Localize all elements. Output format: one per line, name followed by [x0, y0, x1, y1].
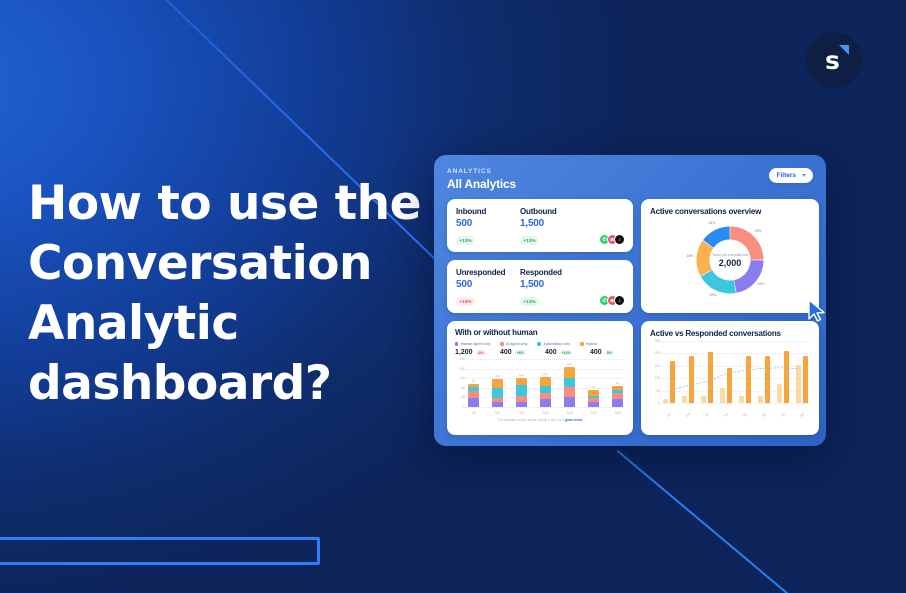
status-badge: +13%	[520, 297, 539, 305]
chart-card-active-conversations[interactable]: Active conversations overview Total conv…	[641, 199, 819, 313]
bar-total-label: 116	[492, 374, 503, 378]
bar-group: 961161221251667089	[468, 359, 623, 407]
status-badge: +15%	[456, 297, 475, 305]
donut-center-value: 2,000	[719, 258, 742, 268]
bar-active	[663, 399, 668, 403]
stacked-bar: 116	[492, 374, 503, 407]
bar-pair	[682, 356, 694, 403]
x-axis-tick: 4/8	[720, 410, 732, 421]
chart-footnote: The analytics shown above include a time…	[455, 418, 625, 422]
stacked-bar-plot: 040801201602009611612212516670897/88/89/…	[455, 359, 625, 415]
bar-active	[796, 365, 801, 403]
bar-segment	[540, 399, 551, 407]
kpi-badge: +8%	[515, 350, 526, 356]
bar-pair	[758, 356, 770, 403]
footnote-link[interactable]: given trend	[565, 418, 582, 422]
bar-segment	[540, 386, 551, 393]
bar-segment	[492, 379, 503, 388]
bar-pair	[739, 356, 751, 403]
y-axis-tick: 0	[658, 401, 660, 405]
legend-swatch	[500, 342, 503, 345]
kpi-badge: -5%	[476, 350, 486, 356]
stacked-bar: 70	[588, 385, 599, 407]
bar-segment	[564, 397, 575, 407]
bar-segment	[516, 378, 527, 386]
donut-center-caption: Total conversations	[712, 252, 748, 257]
legend-label: Human agent only	[461, 342, 490, 346]
x-axis-tick: 11/8	[564, 411, 575, 415]
y-axis-tick: 160	[460, 367, 465, 371]
y-axis-tick: 0	[463, 405, 465, 409]
chart-kpi-row: 1,200-5%400+8%400+14%4000%	[455, 349, 625, 356]
kpi-value: 400	[545, 349, 557, 356]
bar-active	[682, 396, 687, 403]
bar-responded	[746, 356, 751, 403]
chart-card-with-or-without-human[interactable]: With or without human Human agent onlyAI…	[447, 321, 633, 435]
x-axis-tick: 10/8	[540, 411, 551, 415]
donut-segment-label: 15%	[706, 221, 718, 225]
chevron-down-icon	[802, 174, 806, 177]
y-axis: 04080120160200	[455, 359, 466, 407]
x-axis-tick: 1/8	[663, 410, 675, 421]
bar-pair	[777, 351, 789, 403]
bar-responded	[670, 361, 675, 403]
legend-item: Automation only	[537, 342, 570, 346]
chart-title: With or without human	[455, 328, 625, 337]
y-axis-tick: 100	[655, 376, 660, 380]
y-axis-tick: 40	[461, 395, 465, 399]
kpi-value: 1,200	[455, 349, 473, 356]
dashboard-grid: Inbound 500 +13% Outbound 1,500 +13% ✆ ◙…	[447, 199, 813, 435]
legend-swatch	[455, 342, 458, 345]
bar-total-label: 166	[564, 362, 575, 366]
bar-segment	[516, 385, 527, 395]
bar-segment	[492, 402, 503, 407]
legend-label: Automation only	[543, 342, 570, 346]
stat-value: 500	[456, 279, 520, 290]
stat-unresponded: Unresponded 500 +15%	[456, 268, 520, 308]
x-axis-tick: 3/8	[701, 410, 713, 421]
chart-title: Active conversations overview	[650, 207, 810, 216]
bar-responded	[784, 351, 789, 403]
bar-active	[777, 384, 782, 403]
bar-segment	[564, 387, 575, 397]
bar-responded	[727, 368, 732, 403]
stat-card-unresponded-responded[interactable]: Unresponded 500 +15% Responded 1,500 +13…	[447, 260, 633, 313]
kpi-badge: 0%	[605, 350, 614, 356]
legend-swatch	[537, 342, 540, 345]
bar-segment	[564, 367, 575, 378]
bar-pair	[796, 356, 808, 403]
kpi-item: 400+8%	[500, 349, 535, 356]
bar-responded	[803, 356, 808, 403]
kpi-value: 400	[500, 349, 512, 356]
bar-responded	[708, 352, 713, 403]
dashboard-heading-group: ANALYTICS All Analytics	[447, 168, 516, 191]
dashboard-left-column: Inbound 500 +13% Outbound 1,500 +13% ✆ ◙…	[447, 199, 633, 435]
legend-item: AI agent only	[500, 342, 527, 346]
status-badge: +13%	[520, 236, 539, 244]
stacked-bar: 122	[516, 373, 527, 407]
tiktok-icon: ♪	[614, 295, 625, 306]
bar-total-label: 122	[516, 373, 527, 377]
bar-total-label: 96	[468, 379, 479, 383]
logo-triangle-icon	[839, 45, 849, 55]
legend-swatch	[580, 342, 583, 345]
donut-chart-wrapper: Total conversations 2,000 25%22%20%18%15…	[650, 216, 810, 304]
gridline	[661, 403, 810, 404]
filters-button[interactable]: Filters	[769, 168, 813, 183]
chart-card-active-vs-responded[interactable]: Active vs Responded conversations 050100…	[641, 321, 819, 435]
donut-segment-label: 25%	[752, 229, 764, 233]
dashboard-eyebrow: ANALYTICS	[447, 168, 516, 175]
analytics-dashboard-panel: ANALYTICS All Analytics Filters Inbound …	[434, 155, 826, 446]
kpi-value: 400	[590, 349, 602, 356]
bar-segment	[516, 402, 527, 407]
grouped-bar-plot: 0501001502002501/82/83/84/85/86/87/88/8	[650, 341, 810, 417]
y-axis-tick: 200	[655, 351, 660, 355]
y-axis-tick: 250	[655, 339, 660, 343]
bar-segment	[564, 378, 575, 388]
y-axis-tick: 200	[460, 357, 465, 361]
page-title: How to use the Conversation Analytic das…	[28, 174, 458, 414]
channel-icon-group: ✆ ◙ ♪	[599, 234, 625, 245]
bar-pair	[701, 352, 713, 403]
bar-active	[739, 396, 744, 403]
x-axis-tick: 12/8	[588, 411, 599, 415]
chart-title: Active vs Responded conversations	[650, 329, 810, 338]
kpi-badge: +14%	[560, 350, 573, 356]
y-axis-tick: 150	[655, 364, 660, 368]
stat-label: Unresponded	[456, 268, 520, 277]
dashboard-header: ANALYTICS All Analytics Filters	[447, 168, 813, 191]
x-axis-tick: 8/8	[492, 411, 503, 415]
y-axis-tick: 120	[460, 376, 465, 380]
channel-icon-group: ✆ ◙ ♪	[599, 295, 625, 306]
kpi-item: 1,200-5%	[455, 349, 490, 356]
y-axis-tick: 80	[461, 386, 465, 390]
dashboard-right-column: Active conversations overview Total conv…	[641, 199, 819, 435]
bar-segment	[540, 377, 551, 386]
bar-group	[663, 341, 808, 403]
stacked-bar: 96	[468, 379, 479, 407]
stat-outbound: Outbound 1,500 +13%	[520, 207, 584, 247]
legend-label: Hybrid	[586, 342, 597, 346]
x-axis-tick: 13/8	[612, 411, 623, 415]
bar-segment	[612, 399, 623, 407]
stacked-bar: 89	[612, 381, 623, 407]
x-axis-tick: 2/8	[682, 410, 694, 421]
bar-total-label: 125	[540, 372, 551, 376]
legend-item: Hybrid	[580, 342, 597, 346]
x-axis-tick: 8/8	[796, 410, 808, 421]
chart-legend: Human agent onlyAI agent onlyAutomation …	[455, 342, 625, 346]
bar-active	[758, 396, 763, 403]
x-axis-tick: 5/8	[739, 410, 751, 421]
bar-pair	[720, 368, 732, 403]
stat-inbound: Inbound 500 +13%	[456, 207, 520, 247]
stat-label: Outbound	[520, 207, 584, 216]
donut-segment-label: 20%	[707, 293, 719, 297]
x-axis-tick: 6/8	[758, 410, 770, 421]
bar-active	[701, 396, 706, 403]
bar-segment	[468, 398, 479, 407]
bar-segment	[588, 402, 599, 407]
bar-responded	[765, 356, 770, 403]
donut-chart: Total conversations 2,000 25%22%20%18%15…	[694, 224, 766, 296]
bar-segment	[492, 388, 503, 398]
kpi-item: 4000%	[590, 349, 625, 356]
legend-item: Human agent only	[455, 342, 490, 346]
y-axis-tick: 50	[656, 389, 660, 393]
x-axis: 7/88/89/810/811/812/813/8	[468, 411, 623, 415]
dashboard-title: All Analytics	[447, 177, 516, 191]
tiktok-icon: ♪	[614, 234, 625, 245]
stat-label: Inbound	[456, 207, 520, 216]
bar-segment	[468, 391, 479, 398]
kpi-item: 400+14%	[545, 349, 580, 356]
bar-responded	[689, 356, 694, 403]
stacked-bar: 125	[540, 372, 551, 407]
mouse-cursor-icon	[807, 299, 827, 323]
decorative-outline-rectangle	[0, 537, 320, 565]
logo-letter-icon: s	[825, 48, 840, 73]
x-axis-tick: 7/8	[777, 410, 789, 421]
stat-value: 1,500	[520, 279, 584, 290]
stat-card-inbound-outbound[interactable]: Inbound 500 +13% Outbound 1,500 +13% ✆ ◙…	[447, 199, 633, 252]
stacked-bar: 166	[564, 362, 575, 407]
bar-total-label: 70	[588, 385, 599, 389]
brand-logo: s	[806, 32, 862, 88]
filters-button-label: Filters	[776, 172, 796, 179]
gridline	[466, 407, 625, 408]
stat-label: Responded	[520, 268, 584, 277]
x-axis: 1/82/83/84/85/86/87/88/8	[663, 413, 808, 417]
status-badge: +13%	[456, 236, 475, 244]
x-axis-tick: 7/8	[468, 411, 479, 415]
stat-value: 500	[456, 218, 520, 229]
legend-label: AI agent only	[506, 342, 527, 346]
x-axis-tick: 9/8	[516, 411, 527, 415]
y-axis: 050100150200250	[650, 341, 661, 403]
stat-responded: Responded 1,500 +13%	[520, 268, 584, 308]
bar-pair	[663, 361, 675, 403]
stat-value: 1,500	[520, 218, 584, 229]
bar-active	[720, 388, 725, 403]
donut-segment-label: 18%	[684, 254, 696, 258]
bar-total-label: 89	[612, 381, 623, 385]
donut-segment-label: 22%	[755, 282, 767, 286]
